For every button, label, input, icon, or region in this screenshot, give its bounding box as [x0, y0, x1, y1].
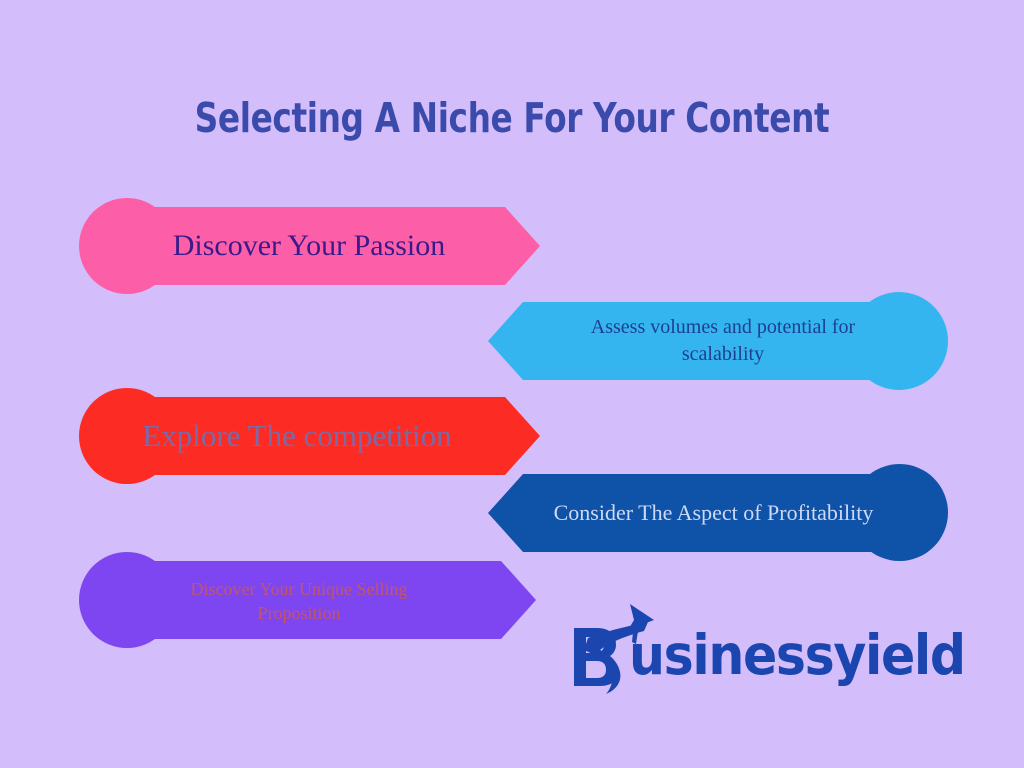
step-banner-assess-scalability[interactable]: Assess volumes and potential for scalabi… — [488, 292, 948, 390]
businessyield-logo[interactable]: usinessyield — [566, 600, 926, 696]
infographic-canvas: Selecting A Niche For Your Content Disco… — [0, 0, 1024, 768]
step-banner-discover-passion[interactable]: Discover Your Passion — [79, 198, 549, 294]
banner-label: Assess volumes and potential for scalabi… — [528, 296, 918, 386]
step-banner-explore-competition[interactable]: Explore The competition — [79, 388, 549, 484]
step-banner-unique-selling-proposition[interactable]: Discover Your Unique Selling Proposition — [79, 552, 549, 648]
banner-label: Consider The Aspect of Profitability — [516, 474, 911, 552]
banner-label: Discover Your Passion — [109, 207, 509, 285]
step-banner-consider-profitability[interactable]: Consider The Aspect of Profitability — [488, 464, 948, 561]
banner-label: Discover Your Unique Selling Proposition — [109, 557, 489, 645]
banner-label: Explore The competition — [97, 397, 497, 475]
page-title: Selecting A Niche For Your Content — [102, 94, 921, 142]
logo-wordmark: usinessyield — [629, 623, 965, 687]
